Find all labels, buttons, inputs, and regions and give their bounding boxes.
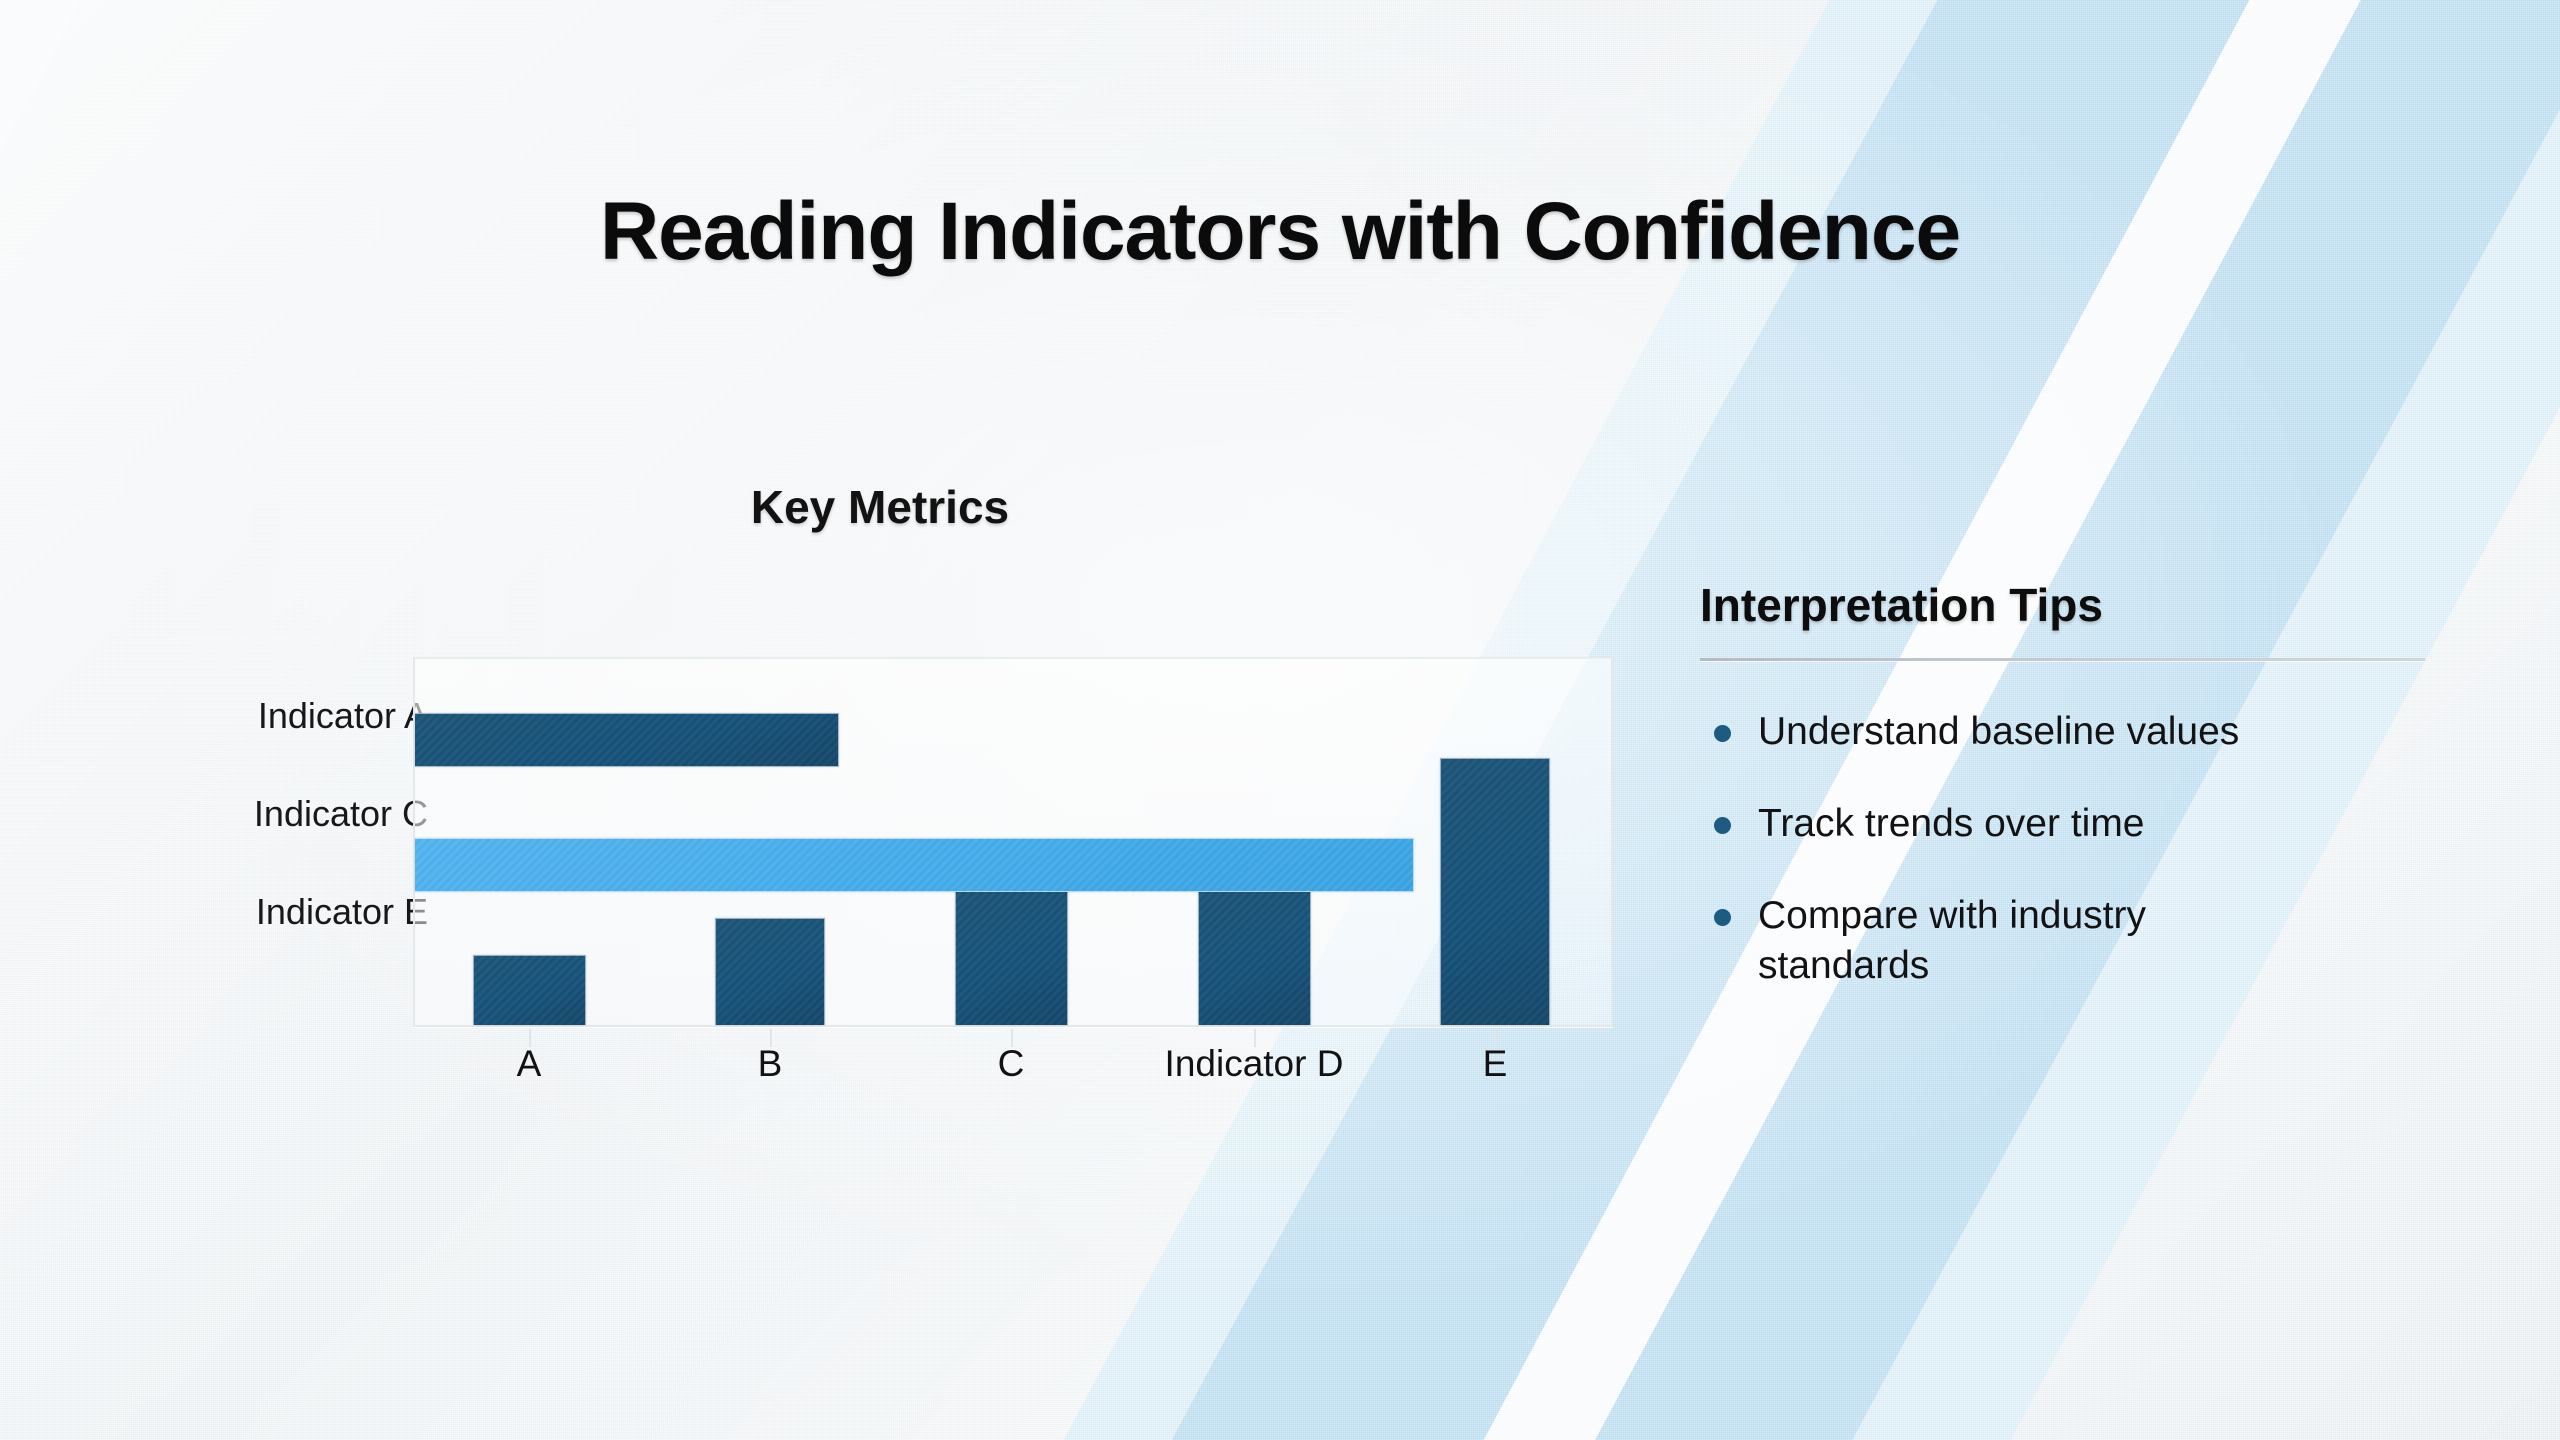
bar-a bbox=[473, 955, 586, 1025]
x-axis-label-e: E bbox=[1483, 1043, 1508, 1085]
y-axis-label-indicator-c: Indicator C bbox=[8, 793, 428, 835]
tips-divider bbox=[1700, 658, 2425, 661]
bullet-icon bbox=[1714, 909, 1731, 926]
x-axis-label-c: C bbox=[998, 1043, 1025, 1085]
list-item-text: Understand baseline values bbox=[1758, 710, 2239, 753]
bar-e bbox=[1440, 758, 1550, 1025]
slide-title: Reading Indicators with Confidence bbox=[0, 185, 2560, 279]
bar-indicator-d bbox=[1198, 886, 1311, 1025]
y-axis-label-indicator-a: Indicator A bbox=[8, 695, 428, 737]
list-item: Understand baseline values bbox=[1700, 707, 2300, 757]
interpretation-tips-panel: Interpretation Tips Understand baseline … bbox=[1700, 578, 2460, 1033]
list-item-text: Track trends over time bbox=[1758, 802, 2145, 845]
bullet-icon bbox=[1714, 817, 1731, 834]
chart-panel: Key Metrics Indicator A Indicator C Indi… bbox=[140, 480, 1640, 1100]
list-item: Track trends over time bbox=[1700, 799, 2300, 849]
x-axis-label-b: B bbox=[758, 1043, 783, 1085]
x-axis-label-indicator-d: Indicator D bbox=[1165, 1043, 1344, 1085]
x-axis-label-a: A bbox=[517, 1043, 542, 1085]
bar-c bbox=[955, 886, 1068, 1025]
hbar-indicator-a bbox=[415, 713, 839, 767]
bar-b bbox=[715, 918, 825, 1025]
list-item-text: Compare with industry standards bbox=[1758, 894, 2146, 987]
tips-heading: Interpretation Tips bbox=[1700, 578, 2460, 632]
hbar-indicator-c bbox=[415, 838, 1414, 892]
list-item: Compare with industry standards bbox=[1700, 891, 2300, 991]
plot-area: A B C Indicator D E bbox=[413, 657, 1613, 1027]
tips-list: Understand baseline values Track trends … bbox=[1700, 707, 2460, 991]
bullet-icon bbox=[1714, 725, 1731, 742]
chart-title: Key Metrics bbox=[140, 480, 1620, 534]
y-axis-label-indicator-e: Indicator E bbox=[8, 891, 428, 933]
